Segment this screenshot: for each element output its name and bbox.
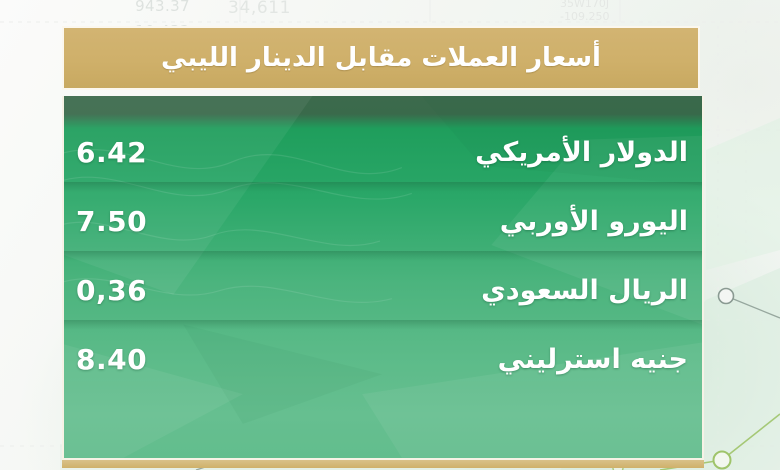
page-title: أسعار العملات مقابل الدينار الليبي: [161, 43, 601, 73]
currency-rate: 0,36: [76, 274, 226, 307]
currency-rate: 7.50: [76, 205, 226, 238]
card-header: أسعار العملات مقابل الدينار الليبي: [62, 26, 700, 90]
list-item[interactable]: الريال السعودي 0,36: [64, 256, 702, 325]
card-footer-bar: [62, 460, 704, 468]
card-body: الدولار الأمريكي 6.42 اليورو الأوربي 7.5…: [62, 96, 704, 460]
currency-name: اليورو الأوربي: [226, 206, 688, 237]
currency-rate: 8.40: [76, 343, 226, 376]
currency-name: الريال السعودي: [226, 275, 688, 306]
list-item[interactable]: اليورو الأوربي 7.50: [64, 187, 702, 256]
currency-name: الدولار الأمريكي: [226, 137, 688, 168]
currency-rates-card: أسعار العملات مقابل الدينار الليبي: [62, 26, 704, 442]
currency-name: جنيه استرليني: [226, 344, 688, 375]
currency-rate: 6.42: [76, 136, 226, 169]
list-item[interactable]: جنيه استرليني 8.40: [64, 325, 702, 394]
rates-list: الدولار الأمريكي 6.42 اليورو الأوربي 7.5…: [64, 118, 702, 394]
list-item[interactable]: الدولار الأمريكي 6.42: [64, 118, 702, 187]
screenshot-root: 943.37 10.432 543.133 960.194 43.156 806…: [0, 0, 780, 470]
